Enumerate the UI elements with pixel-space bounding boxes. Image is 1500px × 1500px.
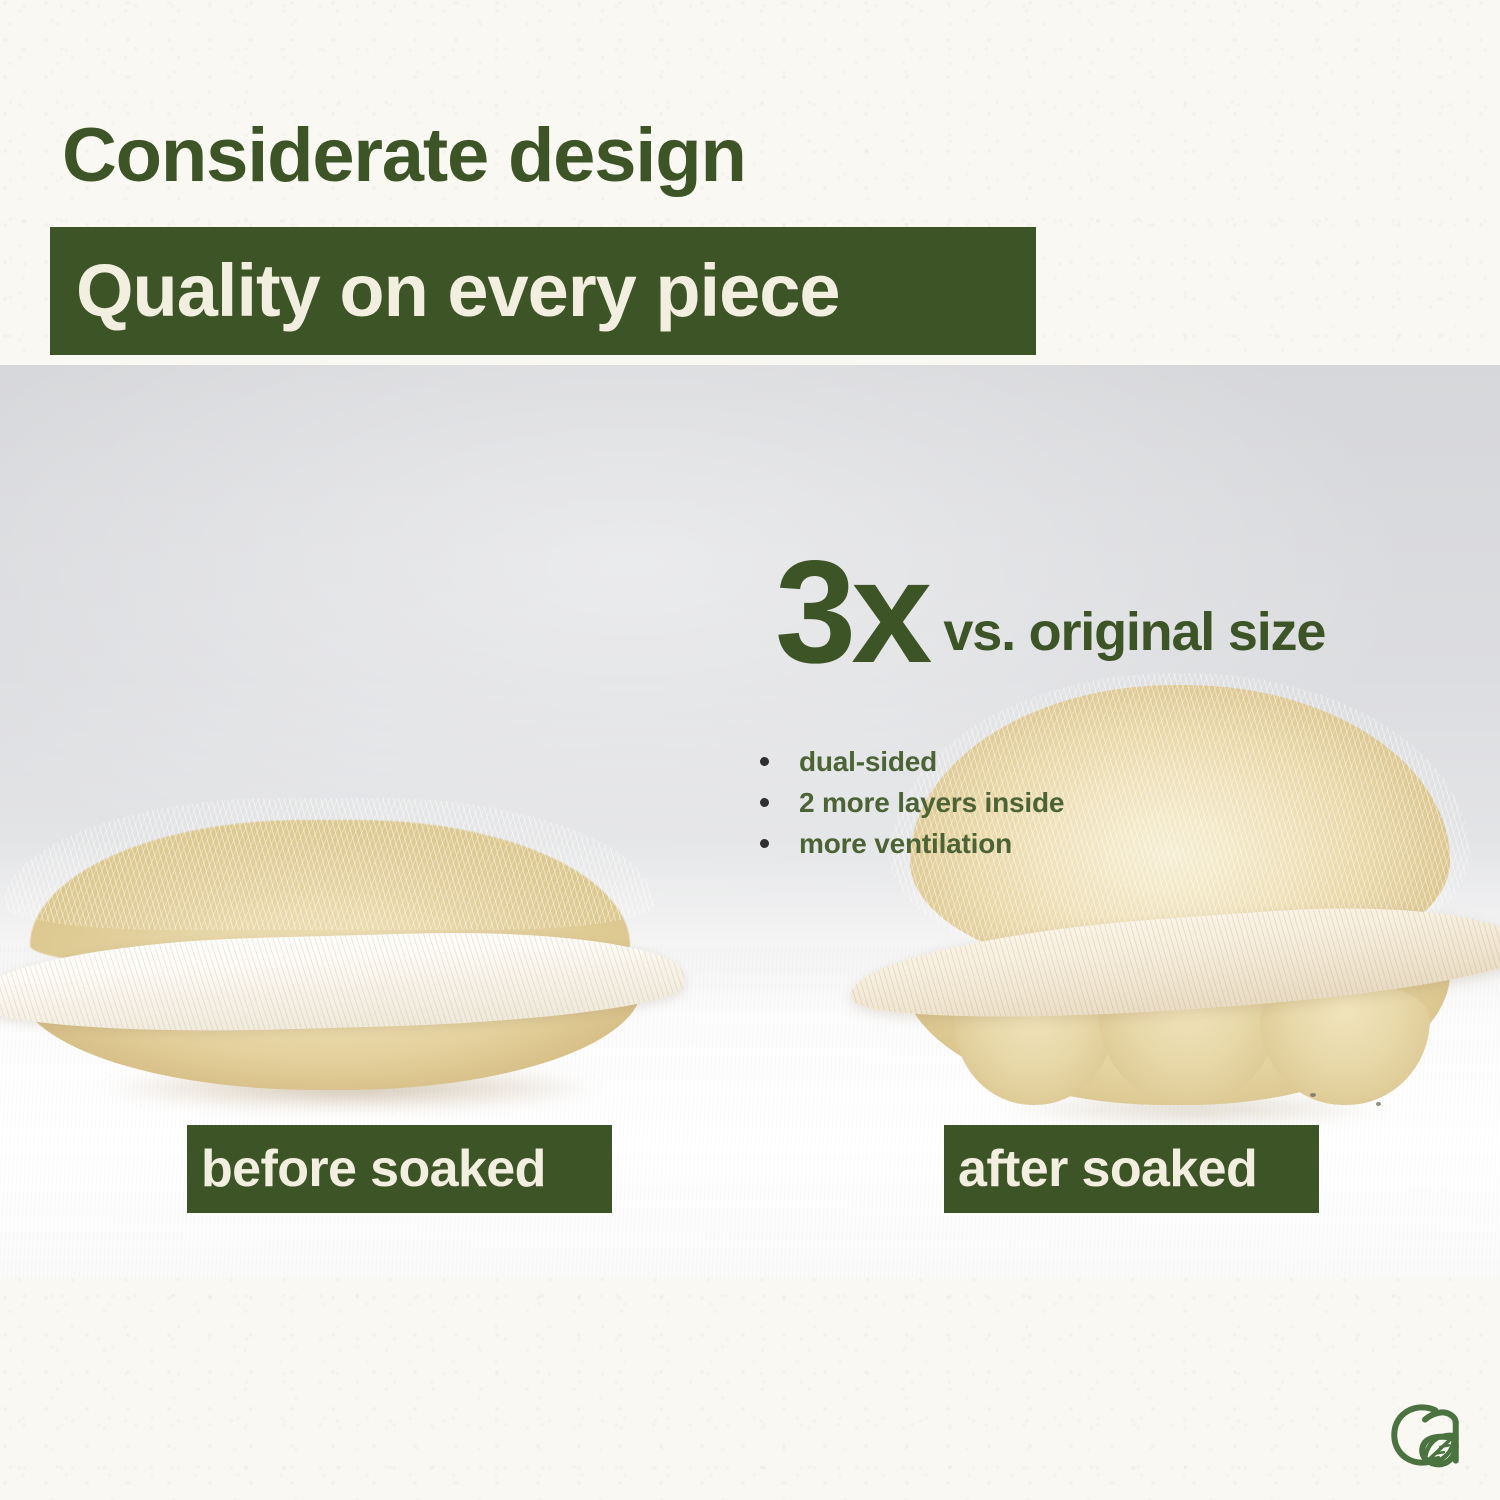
list-item: 2 more layers inside <box>760 786 1064 819</box>
loofah-before-fibers <box>4 798 654 930</box>
bullet-dot-icon <box>760 839 769 848</box>
multiplier-caption: vs. original size <box>943 605 1325 672</box>
brand-logo <box>1382 1394 1468 1476</box>
size-multiplier-callout: 3x vs. original size <box>775 552 1325 672</box>
surface-speck <box>1376 1102 1381 1106</box>
label-before-soaked: before soaked <box>187 1125 612 1213</box>
label-after-soaked: after soaked <box>944 1125 1319 1213</box>
subtitle-banner: Quality on every piece <box>50 227 1036 355</box>
loofah-before-soaked <box>0 820 684 1070</box>
subtitle-text: Quality on every piece <box>50 254 840 328</box>
label-after-soaked-text: after soaked <box>944 1143 1271 1195</box>
feature-label: more ventilation <box>799 827 1012 860</box>
multiplier-value: 3x <box>775 552 927 672</box>
list-item: more ventilation <box>760 827 1064 860</box>
bullet-dot-icon <box>760 798 769 807</box>
bullet-dot-icon <box>760 757 769 766</box>
feature-label: dual-sided <box>799 745 937 778</box>
feature-list: dual-sided 2 more layers inside more ven… <box>760 745 1064 868</box>
label-before-soaked-text: before soaked <box>187 1143 560 1195</box>
list-item: dual-sided <box>760 745 1064 778</box>
feature-label: 2 more layers inside <box>799 786 1064 819</box>
surface-speck <box>1310 1093 1316 1097</box>
page-title: Considerate design <box>62 118 746 194</box>
